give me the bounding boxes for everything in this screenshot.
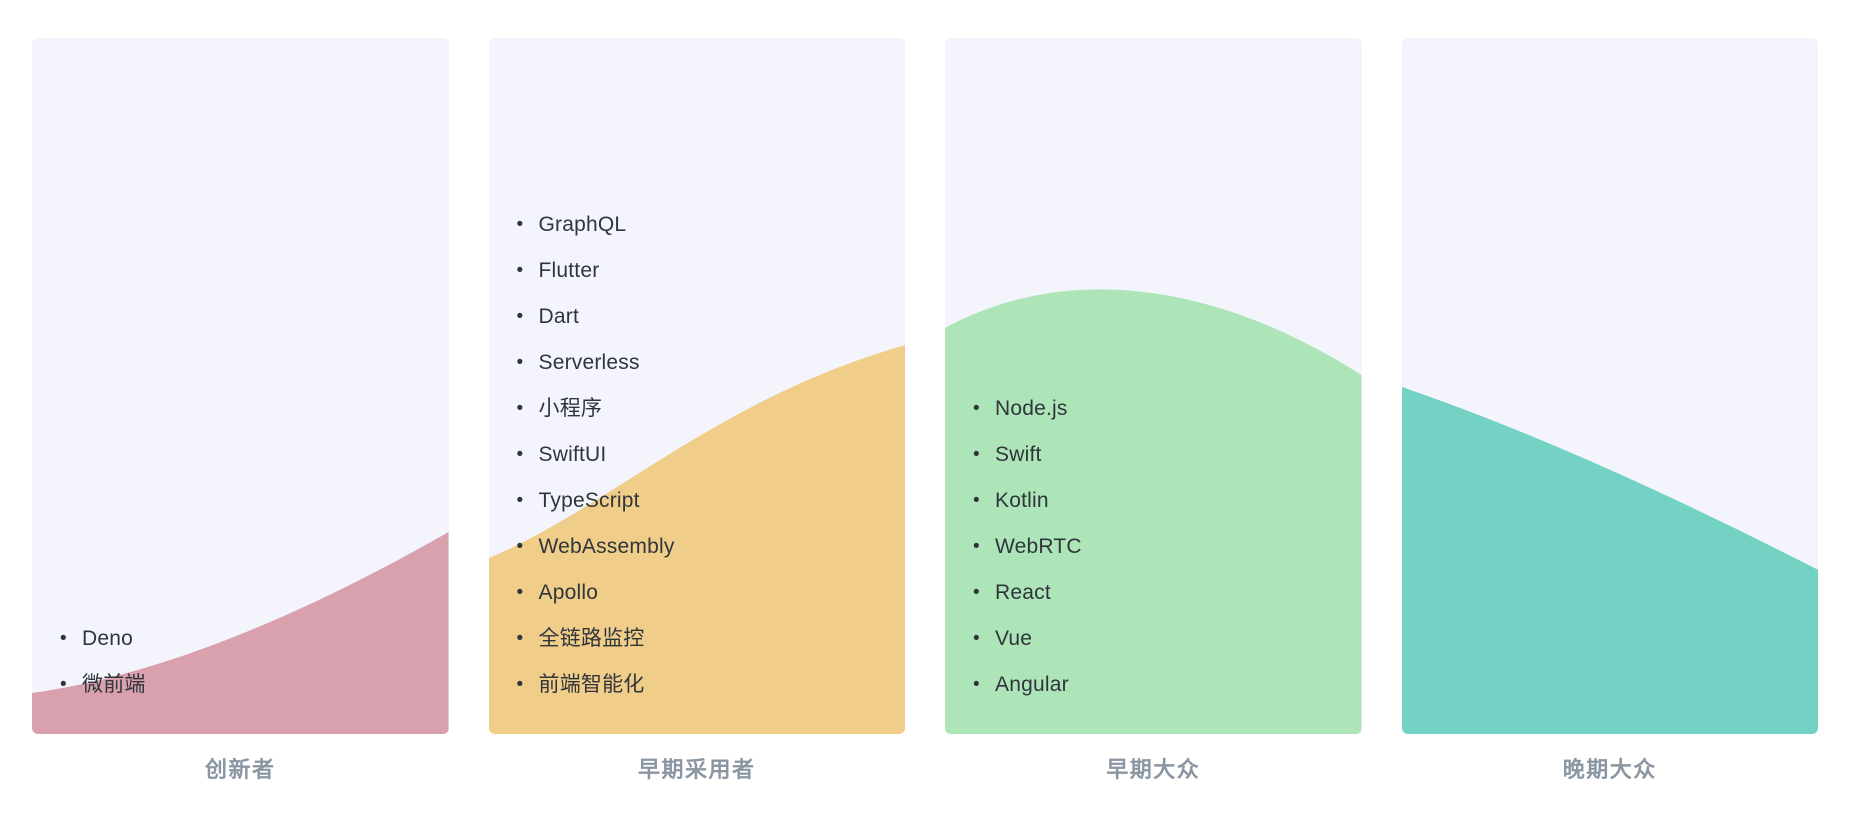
bullet-icon: • [517, 202, 539, 248]
stage-column-early-majority[interactable]: •Node.js•Swift•Kotlin•WebRTC•React•Vue•A… [945, 38, 1362, 734]
stage-labels: 创新者 早期采用者 早期大众 晚期大众 [32, 752, 1818, 802]
list-item[interactable]: •全链路监控 [517, 616, 906, 662]
stage-column-early-adopters[interactable]: •GraphQL•Flutter•Dart•Serverless•小程序•Swi… [489, 38, 906, 734]
list-item[interactable]: •Swift [973, 432, 1362, 478]
bullet-icon: • [60, 662, 82, 708]
list-item-label: 前端智能化 [539, 662, 645, 708]
list-item[interactable]: •Dart [517, 294, 906, 340]
stage-card-late-majority [1402, 38, 1819, 734]
stage-label-innovators: 创新者 [32, 752, 449, 802]
list-item-label: React [995, 570, 1051, 616]
list-item[interactable]: •Serverless [517, 340, 906, 386]
list-item[interactable]: •WebAssembly [517, 524, 906, 570]
list-item[interactable]: •SwiftUI [517, 432, 906, 478]
bullet-icon: • [517, 570, 539, 616]
bullet-icon: • [517, 478, 539, 524]
bullet-icon: • [517, 294, 539, 340]
bullet-icon: • [973, 386, 995, 432]
stage-column-innovators[interactable]: •Deno•微前端 [32, 38, 449, 734]
stage-label-early-adopters: 早期采用者 [489, 752, 906, 802]
list-item[interactable]: •WebRTC [973, 524, 1362, 570]
list-item[interactable]: •TypeScript [517, 478, 906, 524]
list-item[interactable]: •Flutter [517, 248, 906, 294]
bullet-icon: • [517, 616, 539, 662]
list-item-label: 微前端 [82, 662, 146, 708]
list-item-label: WebRTC [995, 524, 1082, 570]
item-list-innovators: •Deno•微前端 [32, 616, 449, 734]
list-item-label: TypeScript [539, 478, 640, 524]
item-list-late-majority [1402, 708, 1819, 734]
stage-card-early-adopters: •GraphQL•Flutter•Dart•Serverless•小程序•Swi… [489, 38, 906, 734]
list-item-label: SwiftUI [539, 432, 607, 478]
list-item[interactable]: •微前端 [60, 662, 449, 708]
list-item-label: Serverless [539, 340, 640, 386]
list-item-label: 小程序 [539, 386, 603, 432]
list-item-label: Flutter [539, 248, 600, 294]
list-item[interactable]: •Deno [60, 616, 449, 662]
stage-column-late-majority[interactable] [1402, 38, 1819, 734]
list-item-label: GraphQL [539, 202, 627, 248]
adoption-curve-chart: •Deno•微前端 •GraphQL•Flutter•Dart•Serverle… [0, 0, 1850, 840]
list-item-label: Node.js [995, 386, 1068, 432]
bullet-icon: • [517, 662, 539, 708]
list-item-label: Kotlin [995, 478, 1049, 524]
stage-label-late-majority: 晚期大众 [1402, 752, 1819, 802]
bullet-icon: • [973, 570, 995, 616]
list-item-label: Swift [995, 432, 1042, 478]
bullet-icon: • [973, 662, 995, 708]
stage-label-early-majority: 早期大众 [945, 752, 1362, 802]
list-item[interactable]: •Node.js [973, 386, 1362, 432]
bullet-icon: • [973, 616, 995, 662]
list-item[interactable]: •Kotlin [973, 478, 1362, 524]
list-item-label: Angular [995, 662, 1069, 708]
bullet-icon: • [517, 248, 539, 294]
list-item[interactable]: •Angular [973, 662, 1362, 708]
item-list-early-adopters: •GraphQL•Flutter•Dart•Serverless•小程序•Swi… [489, 202, 906, 734]
list-item-label: Dart [539, 294, 579, 340]
list-item[interactable]: •前端智能化 [517, 662, 906, 708]
list-item[interactable]: •React [973, 570, 1362, 616]
list-item-label: WebAssembly [539, 524, 675, 570]
wave-area-late-majority [1402, 38, 1819, 734]
list-item[interactable]: •Apollo [517, 570, 906, 616]
bullet-icon: • [60, 616, 82, 662]
wave-path-late-majority [1402, 387, 1819, 734]
stage-card-innovators: •Deno•微前端 [32, 38, 449, 734]
list-item-label: Vue [995, 616, 1032, 662]
list-item[interactable]: •Vue [973, 616, 1362, 662]
bullet-icon: • [517, 524, 539, 570]
bullet-icon: • [973, 478, 995, 524]
stage-columns: •Deno•微前端 •GraphQL•Flutter•Dart•Serverle… [32, 38, 1818, 734]
stage-card-early-majority: •Node.js•Swift•Kotlin•WebRTC•React•Vue•A… [945, 38, 1362, 734]
item-list-early-majority: •Node.js•Swift•Kotlin•WebRTC•React•Vue•A… [945, 386, 1362, 734]
bullet-icon: • [973, 432, 995, 478]
list-item[interactable]: •GraphQL [517, 202, 906, 248]
bullet-icon: • [973, 524, 995, 570]
bullet-icon: • [517, 432, 539, 478]
list-item[interactable]: •小程序 [517, 386, 906, 432]
list-item-label: Deno [82, 616, 133, 662]
list-item-label: 全链路监控 [539, 616, 645, 662]
list-item-label: Apollo [539, 570, 599, 616]
bullet-icon: • [517, 386, 539, 432]
bullet-icon: • [517, 340, 539, 386]
